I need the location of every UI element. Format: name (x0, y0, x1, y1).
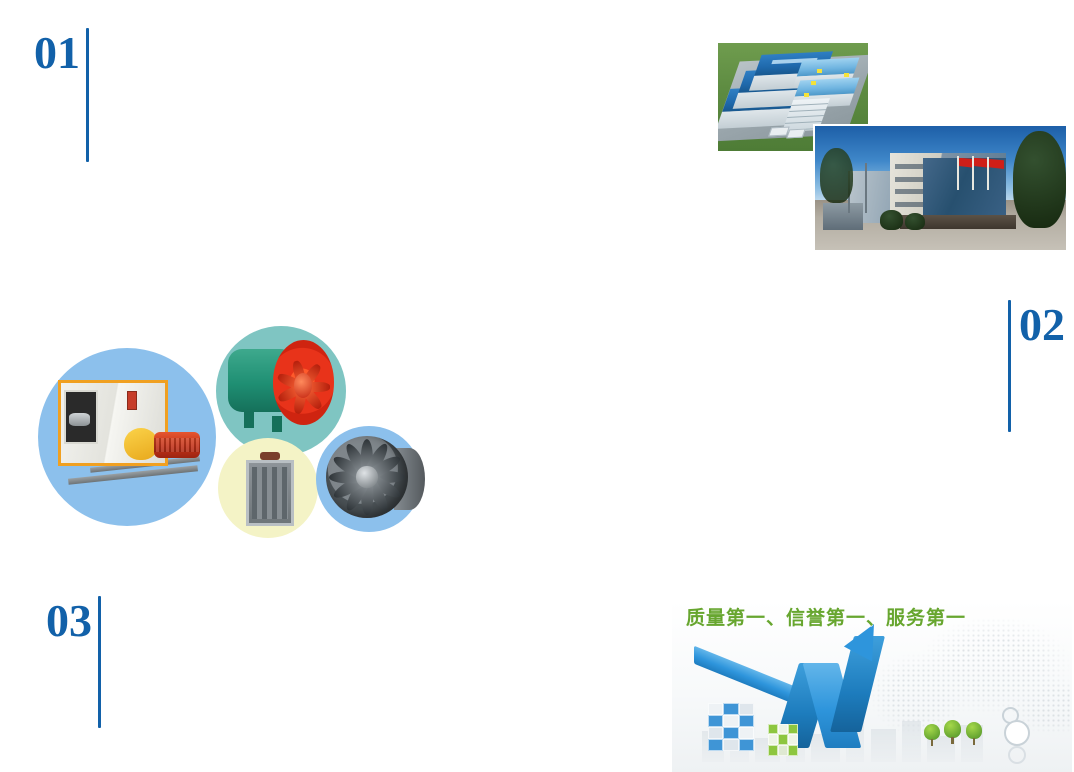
blue-rubik-cube (708, 703, 754, 751)
light-pole (865, 163, 867, 213)
flag-pole-2 (972, 156, 974, 191)
render-marker-dot (844, 73, 849, 77)
impeller-red (273, 340, 334, 425)
banner-tree-1 (924, 724, 940, 746)
flag-pole-3 (987, 157, 989, 190)
green-rubik-cube (768, 724, 798, 756)
shrub (880, 210, 903, 230)
render-marker-dot (817, 69, 822, 73)
metal-impeller-fan (326, 436, 418, 522)
filter-handle (260, 452, 280, 460)
product-collage (30, 318, 430, 558)
axial-flow-fan (228, 340, 334, 432)
section-rule-01 (86, 28, 89, 162)
page-canvas: 01 (0, 0, 1074, 772)
fan-foot (272, 416, 282, 432)
section-marker-01: 01 (34, 28, 89, 162)
section-number-03: 03 (46, 596, 92, 646)
cabinet-centrifugal-fan-unit (58, 380, 204, 492)
banner-tree-2 (944, 720, 961, 744)
office-building-photo (813, 124, 1068, 252)
cabinet-inlet-opening (64, 390, 98, 443)
section-marker-03: 03 (46, 596, 101, 728)
render-marker-dot (811, 81, 816, 85)
belt-guard-cone (124, 428, 158, 460)
tree-left (820, 148, 853, 203)
render-marker-dot (804, 93, 809, 97)
control-panel (127, 391, 137, 410)
section-number-01: 01 (34, 28, 80, 78)
tree-right (1013, 131, 1066, 228)
impeller-disc (326, 436, 408, 518)
slogan-text: 质量第一、信誉第一、服务第一 (686, 606, 966, 630)
shrub (905, 213, 925, 230)
fan-foot (244, 412, 254, 428)
quality-slogan-banner: 质量第一、信誉第一、服务第一 (672, 600, 1072, 772)
air-filter-damper (246, 458, 294, 526)
section-number-02: 02 (1019, 300, 1065, 350)
section-rule-03 (98, 596, 101, 728)
electric-motor (154, 432, 200, 458)
banner-tree-3 (966, 722, 982, 745)
section-rule-02 (1008, 300, 1011, 432)
filter-frame (246, 460, 294, 526)
impeller-hub (356, 466, 377, 487)
flag-pole-1 (957, 156, 959, 191)
section-marker-02: 02 (1008, 300, 1065, 432)
centrifugal-wheel (69, 413, 90, 426)
gate-house (823, 203, 863, 230)
